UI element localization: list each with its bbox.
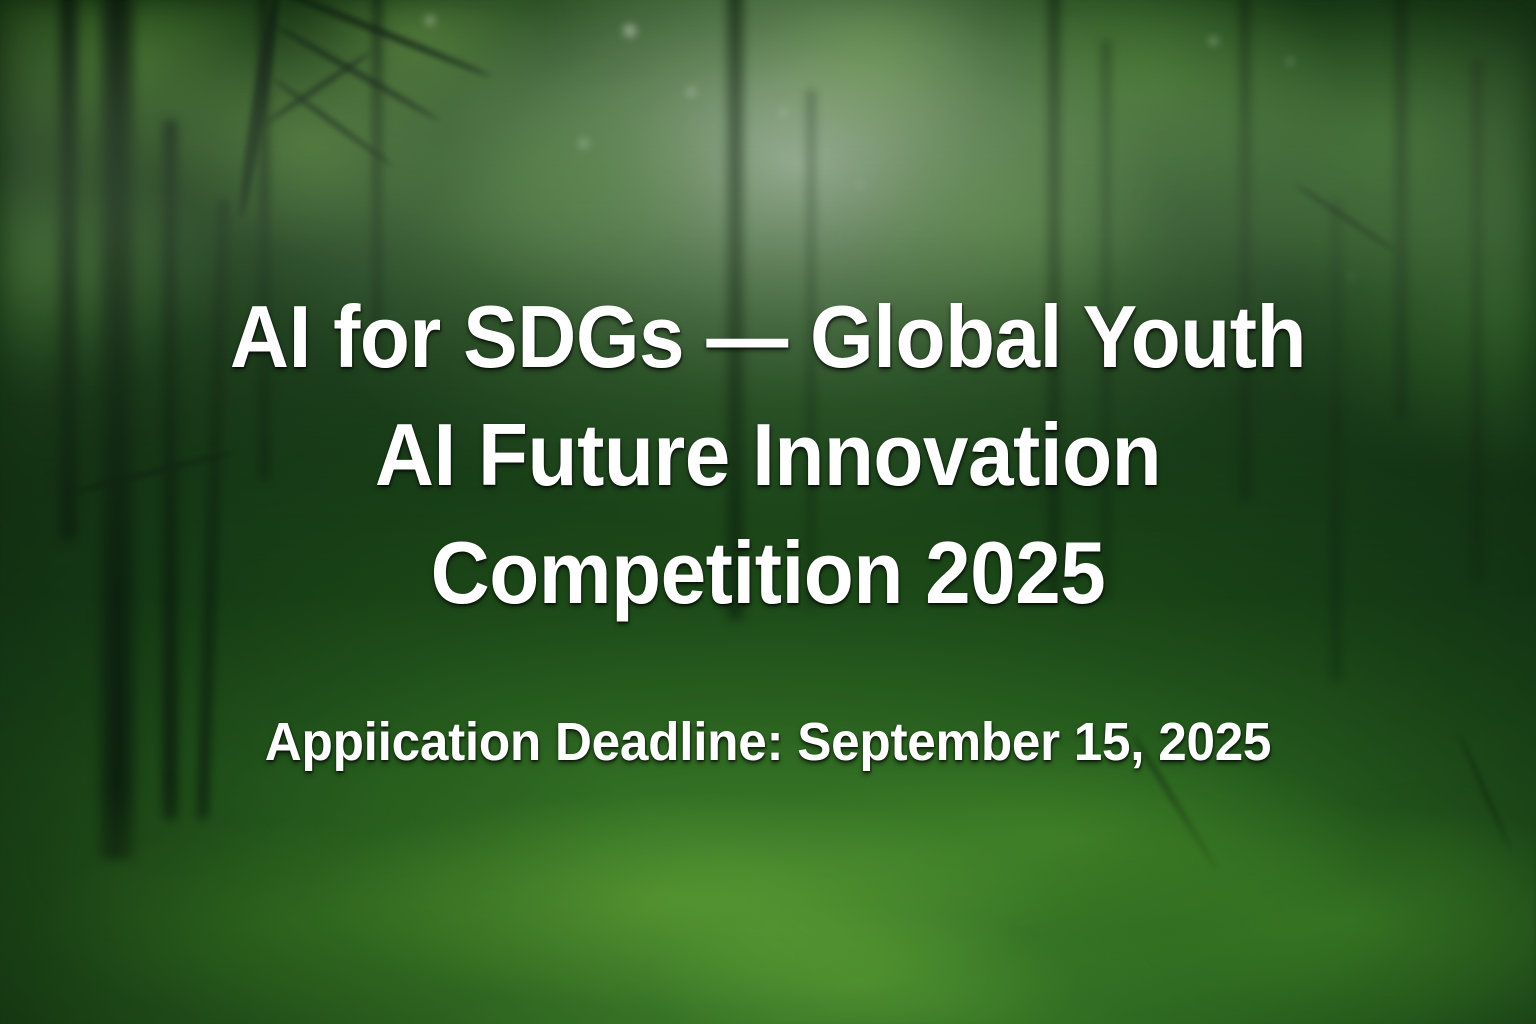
title-line-1: AI for SDGs — Global Youth	[182, 278, 1354, 396]
slide-subtitle: Appiication Deadline: September 15, 2025	[118, 710, 1418, 774]
title-line-2: AI Future Innovation	[182, 396, 1354, 514]
presentation-slide: AI for SDGs — Global Youth AI Future Inn…	[0, 0, 1536, 1024]
slide-content: AI for SDGs — Global Youth AI Future Inn…	[0, 0, 1536, 1024]
application-deadline-text: Appiication Deadline: September 15, 2025	[151, 710, 1386, 774]
title-line-3: Competition 2025	[182, 514, 1354, 632]
slide-title: AI for SDGs — Global Youth AI Future Inn…	[138, 278, 1398, 632]
